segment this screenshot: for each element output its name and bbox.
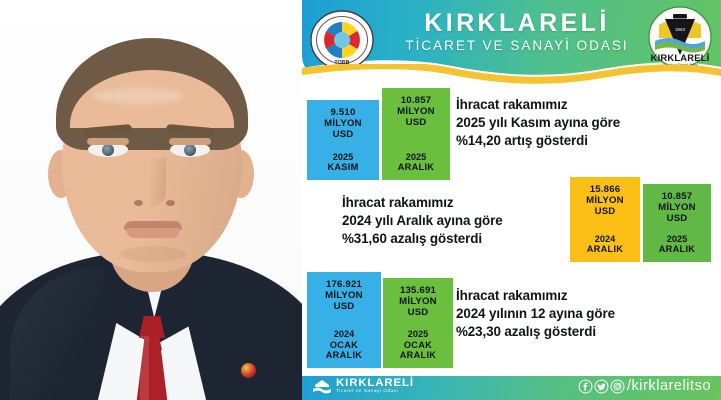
stat-currency: USD	[307, 301, 381, 312]
kirklareli-badge-icon: 1963 KIRKLARELİ Ticaret ve Sanayi Odası	[647, 5, 713, 69]
footer-logo-subtitle: Ticaret ve Sanayi Odası	[336, 390, 399, 395]
stat-top-group: 10.857 MİLYON USD	[643, 184, 711, 224]
iris-right	[184, 144, 196, 156]
stat-box-aralik-2025-a: 10.857 MİLYON USD 2025 ARALIK	[382, 88, 450, 180]
header-title-group: KIRKLARELİ TİCARET VE SANAYİ ODASI	[386, 10, 648, 53]
badge-year: 1963	[675, 27, 686, 32]
stat-top-group: 135.691 MİLYON USD	[383, 278, 453, 318]
social-links[interactable]: /kirklarelitso	[578, 379, 711, 394]
stat-box-kasim-2025: 9.510 MİLYON USD 2025 KASIM	[307, 100, 379, 180]
stat-unit: MİLYON	[570, 195, 640, 206]
chin	[120, 246, 186, 262]
forehead-highlight	[92, 88, 184, 104]
stat-currency: USD	[383, 307, 453, 318]
eyelid-right	[169, 138, 211, 145]
stat-unit: MİLYON	[307, 118, 379, 129]
statement-2: İhracat rakamımız 2024 yılı Aralık ayına…	[342, 194, 503, 247]
stat-period: ARALIK	[570, 244, 640, 255]
statement-3-line-3: %23,30 azalış gösterdi	[456, 323, 615, 341]
statement-2-line-2: 2024 yılı Aralık ayına göre	[342, 212, 503, 230]
stat-bottom-group: 2025 OCAK ARALIK	[383, 329, 453, 368]
stat-bottom-group: 2025 ARALIK	[382, 152, 450, 180]
stat-currency: USD	[307, 129, 379, 140]
stat-top-group: 15.866 MİLYON USD	[570, 177, 640, 217]
stat-amount: 10.857	[643, 191, 711, 202]
stat-unit: MİLYON	[383, 296, 453, 307]
facebook-icon[interactable]	[578, 379, 593, 394]
stat-bottom-group: 2024 OCAK ARALIK	[307, 329, 381, 368]
statement-1: İhracat rakamımız 2025 yılı Kasım ayına …	[456, 96, 620, 149]
portrait-photo	[0, 0, 302, 400]
stat-period: ARALIK	[643, 244, 711, 255]
stat-period-2: ARALIK	[307, 350, 381, 361]
infographic-canvas: KIRKLARELİ TİCARET VE SANAYİ ODASI TOBB	[0, 0, 721, 400]
stat-bottom-group: 2025 KASIM	[307, 152, 379, 180]
stat-bottom-group: 2025 ARALIK	[643, 234, 711, 262]
stat-unit: MİLYON	[307, 290, 381, 301]
stat-period: KASIM	[307, 162, 379, 173]
stat-box-aralik-2024: 15.866 MİLYON USD 2024 ARALIK	[570, 177, 640, 262]
stat-period: OCAK	[307, 340, 381, 351]
page-title: KIRKLARELİ	[386, 10, 648, 36]
stat-amount: 10.857	[382, 95, 450, 106]
stat-currency: USD	[382, 117, 450, 128]
stat-year: 2024	[570, 234, 640, 245]
stat-box-ocak-aralik-2025: 135.691 MİLYON USD 2025 OCAK ARALIK	[383, 278, 453, 368]
stat-unit: MİLYON	[382, 106, 450, 117]
footer-logo-icon	[311, 378, 333, 398]
nose	[138, 158, 166, 206]
stat-year: 2024	[307, 329, 381, 340]
statement-3-line-2: 2024 yılının 12 ayına göre	[456, 305, 615, 323]
stat-year: 2025	[383, 329, 453, 340]
stat-period: OCAK	[383, 340, 453, 351]
stat-period: ARALIK	[382, 162, 450, 173]
lapel-pin-icon	[241, 363, 256, 378]
stat-amount: 135.691	[383, 285, 453, 296]
statement-3: İhracat rakamımız 2024 yılının 12 ayına …	[456, 287, 615, 340]
stat-top-group: 9.510 MİLYON USD	[307, 100, 379, 140]
stat-top-group: 10.857 MİLYON USD	[382, 88, 450, 128]
stat-currency: USD	[570, 206, 640, 217]
statement-1-line-3: %14,20 artış gösterdi	[456, 132, 620, 150]
stat-box-ocak-aralik-2024: 176.921 MİLYON USD 2024 OCAK ARALIK	[307, 272, 381, 368]
stat-top-group: 176.921 MİLYON USD	[307, 272, 381, 312]
eyelid-left	[87, 138, 129, 145]
statement-1-line-1: İhracat rakamımız	[456, 96, 620, 114]
stat-bottom-group: 2024 ARALIK	[570, 234, 640, 262]
footer-logo-name: KIRKLARELİ	[336, 378, 414, 389]
stat-amount: 176.921	[307, 279, 381, 290]
stat-unit: MİLYON	[643, 202, 711, 213]
badge-title: KIRKLARELİ	[651, 52, 710, 63]
stat-amount: 15.866	[570, 184, 640, 195]
social-handle[interactable]: /kirklarelitso	[627, 379, 711, 394]
stat-year: 2025	[643, 234, 711, 245]
page-subtitle: TİCARET VE SANAYİ ODASI	[386, 38, 648, 53]
gold-accent-band	[302, 64, 721, 84]
iris-left	[102, 144, 114, 156]
stat-amount: 9.510	[307, 107, 379, 118]
stat-box-aralik-2025-b: 10.857 MİLYON USD 2025 ARALIK	[643, 184, 711, 262]
nostril-right	[166, 200, 175, 206]
twitter-icon[interactable]	[594, 379, 609, 394]
statement-2-line-3: %31,60 azalış gösterdi	[342, 230, 503, 248]
statement-3-line-1: İhracat rakamımız	[456, 287, 615, 305]
infographic-panel: KIRKLARELİ TİCARET VE SANAYİ ODASI TOBB	[302, 0, 721, 400]
stat-year: 2025	[382, 152, 450, 163]
stat-period-2: ARALIK	[383, 350, 453, 361]
nostril-left	[134, 200, 143, 206]
instagram-icon[interactable]	[610, 379, 625, 394]
stat-year: 2025	[307, 152, 379, 163]
statement-2-line-1: İhracat rakamımız	[342, 194, 503, 212]
stat-currency: USD	[643, 213, 711, 224]
necktie-highlight	[140, 336, 149, 400]
tobb-logo-icon: TOBB	[309, 9, 375, 71]
statement-1-line-2: 2025 yılı Kasım ayına göre	[456, 114, 620, 132]
lower-lip	[126, 228, 180, 238]
